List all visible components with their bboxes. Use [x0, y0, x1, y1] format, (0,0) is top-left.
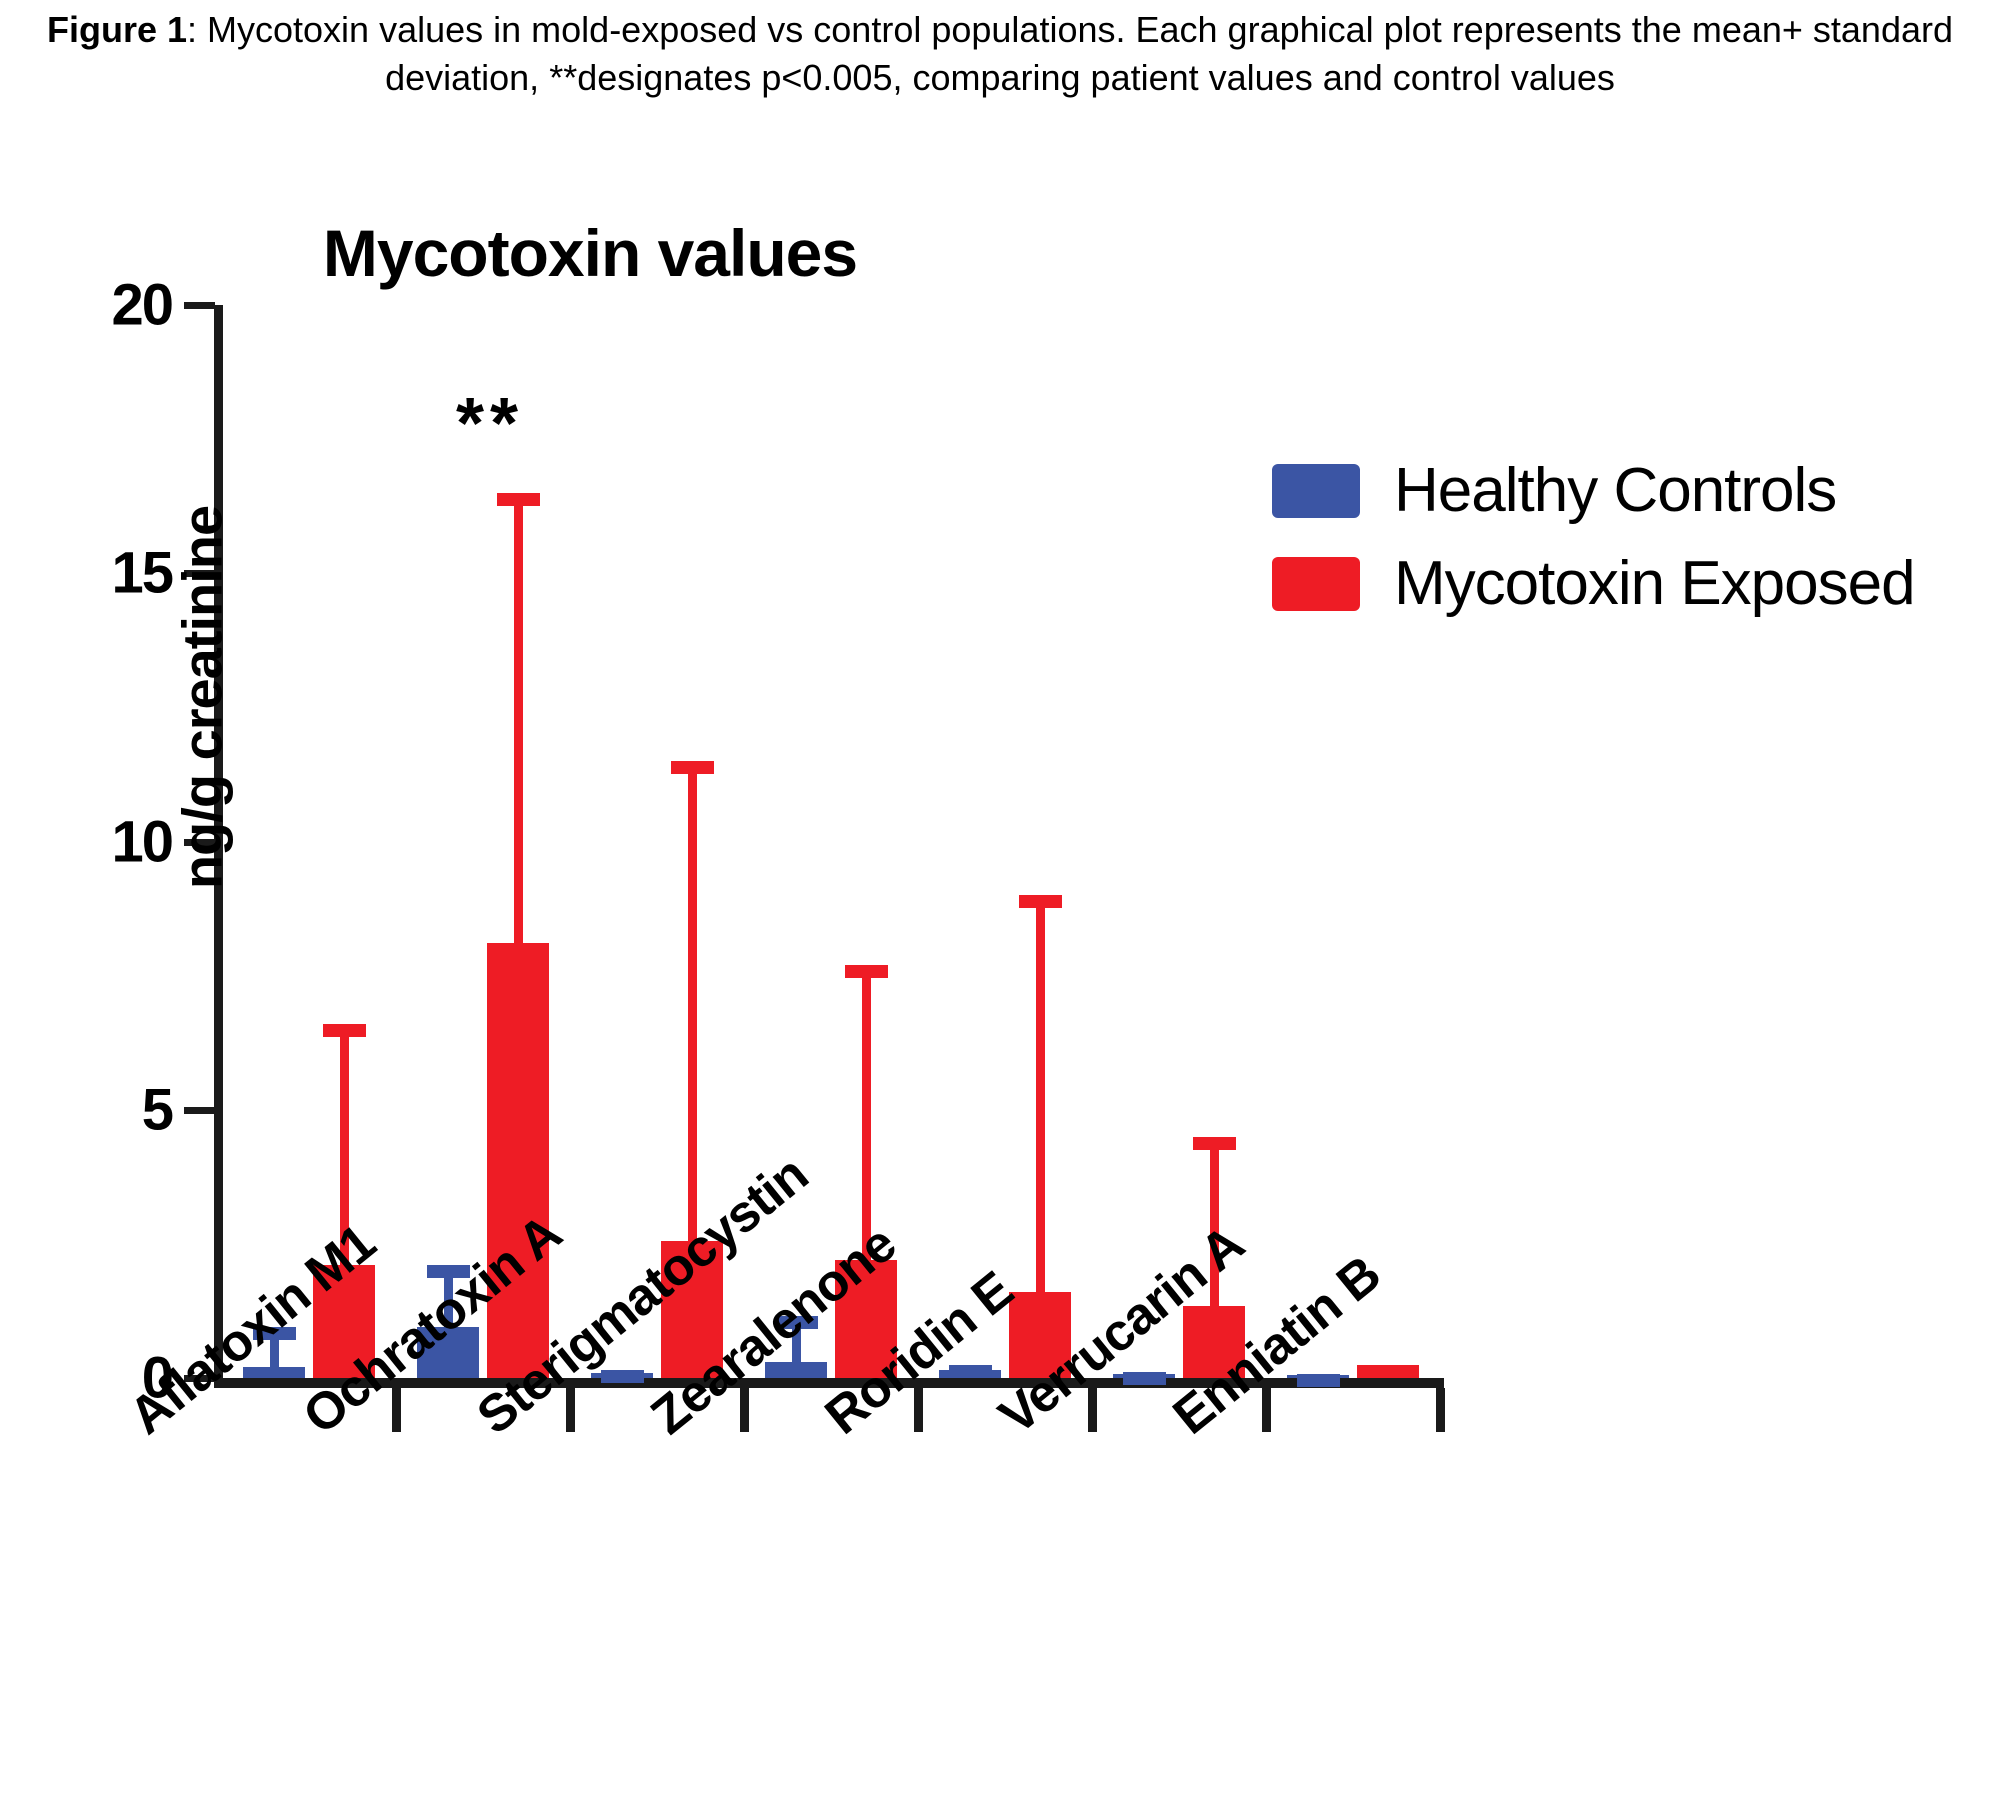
- legend-label-healthy-controls: Healthy Controls: [1394, 455, 1836, 526]
- x-axis-tick: [1436, 1388, 1445, 1432]
- error-bar-stem: [688, 761, 697, 1241]
- error-bar-control: [966, 1365, 975, 1370]
- error-bar-control: [1314, 1374, 1323, 1376]
- significance-marker: **: [456, 383, 524, 465]
- legend-swatch-mycotoxin-exposed: [1272, 557, 1360, 611]
- error-bar-cap: [671, 761, 714, 774]
- chart-legend: Healthy Controls Mycotoxin Exposed: [1272, 455, 1915, 641]
- error-bar-cap: [601, 1370, 644, 1383]
- y-axis-tick: [184, 302, 215, 309]
- error-bar-stem: [514, 493, 523, 944]
- y-axis-tick-label: 15: [111, 540, 172, 607]
- error-bar-control: [1140, 1372, 1149, 1374]
- error-bar-stem: [1036, 895, 1045, 1292]
- error-bar-cap: [323, 1024, 366, 1037]
- error-bar-cap: [1193, 1137, 1236, 1150]
- y-axis-label: ng/g creatinine: [170, 388, 235, 1008]
- error-bar-cap: [1019, 895, 1062, 908]
- chart-title: Mycotoxin values: [0, 215, 1180, 291]
- error-bar-exposed: [688, 761, 697, 1241]
- legend-item-mycotoxin-exposed: Mycotoxin Exposed: [1272, 548, 1915, 619]
- error-bar-cap: [497, 493, 540, 506]
- error-bar-control: [618, 1370, 627, 1373]
- error-bar-cap: [1297, 1374, 1340, 1387]
- y-axis-tick-label: 5: [142, 1076, 172, 1143]
- legend-label-mycotoxin-exposed: Mycotoxin Exposed: [1394, 548, 1915, 619]
- legend-item-healthy-controls: Healthy Controls: [1272, 455, 1915, 526]
- bar-exposed: [1357, 1365, 1419, 1378]
- legend-swatch-healthy-controls: [1272, 464, 1360, 518]
- error-bar-cap: [845, 965, 888, 978]
- error-bar-cap: [949, 1365, 992, 1378]
- chart-figure: Mycotoxin values 05101520 ng/g creatinin…: [0, 0, 2000, 1801]
- error-bar-cap: [1123, 1372, 1166, 1385]
- y-axis-tick-label: 10: [111, 808, 172, 875]
- y-axis-tick-labels: 05101520: [2, 305, 172, 1378]
- error-bar-exposed: [514, 493, 523, 944]
- bar-control: [243, 1367, 305, 1378]
- bar-exposed: [487, 943, 549, 1378]
- error-bar-exposed: [1036, 895, 1045, 1292]
- plot-area: 05101520 ng/g creatinine: [222, 305, 1440, 1378]
- y-axis-tick: [184, 1107, 215, 1114]
- y-axis-tick-label: 20: [111, 272, 172, 339]
